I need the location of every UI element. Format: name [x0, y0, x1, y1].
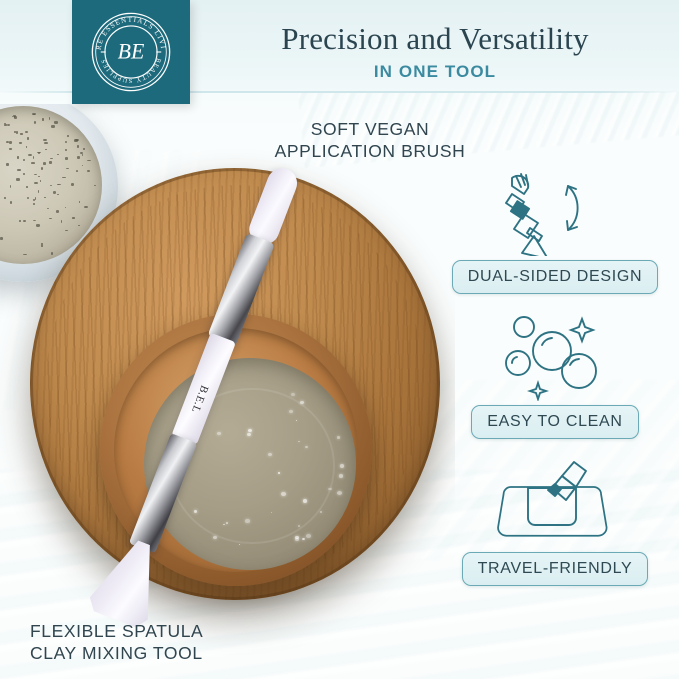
clay-glint — [339, 474, 343, 477]
clay-speck — [77, 156, 80, 158]
bubbles-sparkle-icon — [490, 305, 620, 401]
clay-speck — [45, 149, 46, 151]
spatula-callout-line1: FLEXIBLE SPATULA — [30, 620, 290, 642]
clay-speck — [34, 174, 37, 176]
clay-speck — [84, 206, 87, 208]
clay-glint — [306, 534, 311, 538]
clay-glint — [337, 491, 342, 495]
clay-speck — [4, 197, 6, 200]
clay-speck — [38, 176, 40, 178]
brush-callout-line1: SOFT VEGAN — [255, 118, 485, 140]
clay-glint — [298, 525, 300, 527]
brand-logo-icon: BARE ESSENTIALS LIVING BEAUTY SUPPLIES B… — [89, 10, 173, 94]
clay-speck — [49, 218, 51, 219]
clay-speck — [41, 243, 43, 245]
clay-speck — [41, 245, 43, 246]
clay-speck — [10, 185, 11, 188]
clay-speck — [43, 139, 46, 142]
silicone-spatula-blade — [86, 532, 173, 631]
clay-speck — [94, 185, 96, 186]
clay-speck — [56, 210, 60, 213]
clay-glint — [281, 492, 286, 496]
cosmetic-bag-brush-icon — [490, 452, 620, 548]
clay-speck — [37, 152, 41, 153]
clay-speck — [82, 154, 83, 156]
clay-speck — [32, 113, 35, 115]
clay-glint — [291, 393, 295, 396]
clay-speck — [16, 131, 18, 134]
clay-speck — [17, 169, 20, 171]
clay-speck — [50, 185, 52, 186]
clay-speck — [40, 180, 41, 182]
clay-speck — [78, 225, 80, 227]
clay-glint — [278, 472, 280, 473]
clay-speck — [50, 158, 53, 160]
clay-speck — [43, 162, 47, 164]
clay-speck — [16, 178, 19, 180]
clay-speck — [72, 217, 74, 219]
clay-glint — [337, 436, 340, 438]
clay-speck — [14, 131, 16, 133]
brand-logo: BARE ESSENTIALS LIVING BEAUTY SUPPLIES B… — [72, 0, 190, 104]
page-title: Precision and Versatility — [200, 22, 670, 57]
feature-easy-to-clean: EASY TO CLEAN — [440, 305, 670, 439]
clay-speck — [66, 168, 69, 170]
clay-glint — [300, 401, 303, 404]
clay-speck — [28, 154, 31, 156]
clay-speck — [31, 162, 35, 164]
feature-label-pill: TRAVEL-FRIENDLY — [462, 552, 649, 586]
clay-speck — [76, 170, 79, 173]
feature-label-pill: DUAL-SIDED DESIGN — [452, 260, 659, 294]
clay-speck — [19, 220, 21, 222]
clay-speck — [23, 220, 26, 222]
clay-glint — [239, 544, 241, 545]
dual-ended-brush-rotate-icon — [490, 160, 620, 256]
clay-speck — [9, 148, 12, 150]
clay-speck — [35, 197, 36, 200]
clay-speck — [27, 137, 29, 139]
clay-speck — [67, 135, 69, 137]
feature-dual-sided-design: DUAL-SIDED DESIGN — [440, 160, 670, 294]
clay-speck — [10, 201, 12, 204]
clay-speck — [33, 220, 36, 221]
clay-speck — [9, 141, 12, 144]
clay-speck — [87, 160, 91, 162]
clay-speck — [23, 173, 25, 175]
spatula-callout-label: FLEXIBLE SPATULA CLAY MIXING TOOL — [30, 620, 290, 665]
clay-speck — [17, 156, 18, 159]
infographic-canvas: B.E.L BARE ESSENTIALS LIVING BEAUTY SUPP… — [0, 0, 679, 679]
clay-speck — [44, 197, 45, 198]
clay-speck — [7, 124, 11, 127]
clay-speck — [47, 208, 49, 209]
page-subtitle: IN ONE TOOL — [200, 62, 670, 82]
clay-glint — [320, 511, 322, 512]
clay-speck — [79, 201, 81, 203]
clay-speck — [6, 163, 8, 165]
clay-speck — [26, 186, 29, 187]
clay-speck — [33, 203, 35, 205]
clay-speck — [54, 121, 58, 123]
clay-speck — [23, 159, 25, 161]
clay-speck — [65, 207, 66, 208]
clay-speck — [62, 177, 66, 178]
clay-speck — [26, 146, 27, 147]
clay-glint — [194, 510, 198, 513]
clay-glint — [302, 538, 305, 540]
clay-glint — [340, 464, 344, 468]
clay-speck — [51, 125, 54, 128]
clay-speck — [57, 154, 59, 156]
clay-glint — [295, 536, 299, 539]
product-photo: B.E.L — [0, 104, 455, 679]
clay-glint — [268, 453, 272, 456]
clay-speck — [53, 191, 56, 194]
clay-speck — [77, 145, 79, 147]
clay-speck — [36, 224, 40, 227]
clay-speck — [4, 124, 7, 125]
clay-speck — [49, 117, 50, 120]
clay-speck — [0, 237, 3, 239]
clay-speck — [65, 141, 67, 144]
clay-speck — [49, 161, 51, 164]
clay-speck — [44, 142, 48, 145]
clay-speck — [57, 194, 59, 195]
clay-speck — [87, 170, 90, 172]
clay-speck — [71, 183, 74, 186]
brush-callout-label: SOFT VEGAN APPLICATION BRUSH — [255, 118, 485, 163]
feature-label-pill: EASY TO CLEAN — [471, 405, 638, 439]
clay-speck — [33, 199, 35, 201]
clay-speck — [27, 197, 29, 199]
clay-speck — [34, 182, 37, 184]
clay-speck — [19, 142, 22, 144]
clay-speck — [33, 156, 34, 158]
clay-glint — [245, 519, 249, 523]
feature-travel-friendly: TRAVEL-FRIENDLY — [440, 452, 670, 586]
clay-speck — [83, 148, 85, 150]
svg-text:BE: BE — [118, 40, 145, 64]
clay-speck — [65, 149, 67, 151]
clay-speck — [80, 152, 83, 154]
clay-speck — [34, 121, 36, 124]
handle-brand-mark: B.E.L — [177, 368, 222, 430]
clay-speck — [25, 131, 28, 133]
clay-speck — [74, 139, 78, 142]
clay-speck — [65, 157, 69, 159]
clay-speck — [42, 118, 43, 121]
clay-speck — [38, 190, 39, 192]
clay-speck — [51, 252, 54, 254]
clay-speck — [61, 220, 62, 223]
clay-speck — [41, 167, 43, 170]
clay-speck — [20, 133, 23, 134]
spatula-callout-line2: CLAY MIXING TOOL — [30, 642, 290, 664]
clay-glint — [226, 522, 228, 524]
handle-brand-text: B.E.L — [189, 384, 211, 415]
clay-speck — [23, 254, 26, 256]
clay-speck — [65, 230, 69, 231]
clay-glint — [213, 536, 217, 539]
clay-speck — [82, 165, 84, 166]
